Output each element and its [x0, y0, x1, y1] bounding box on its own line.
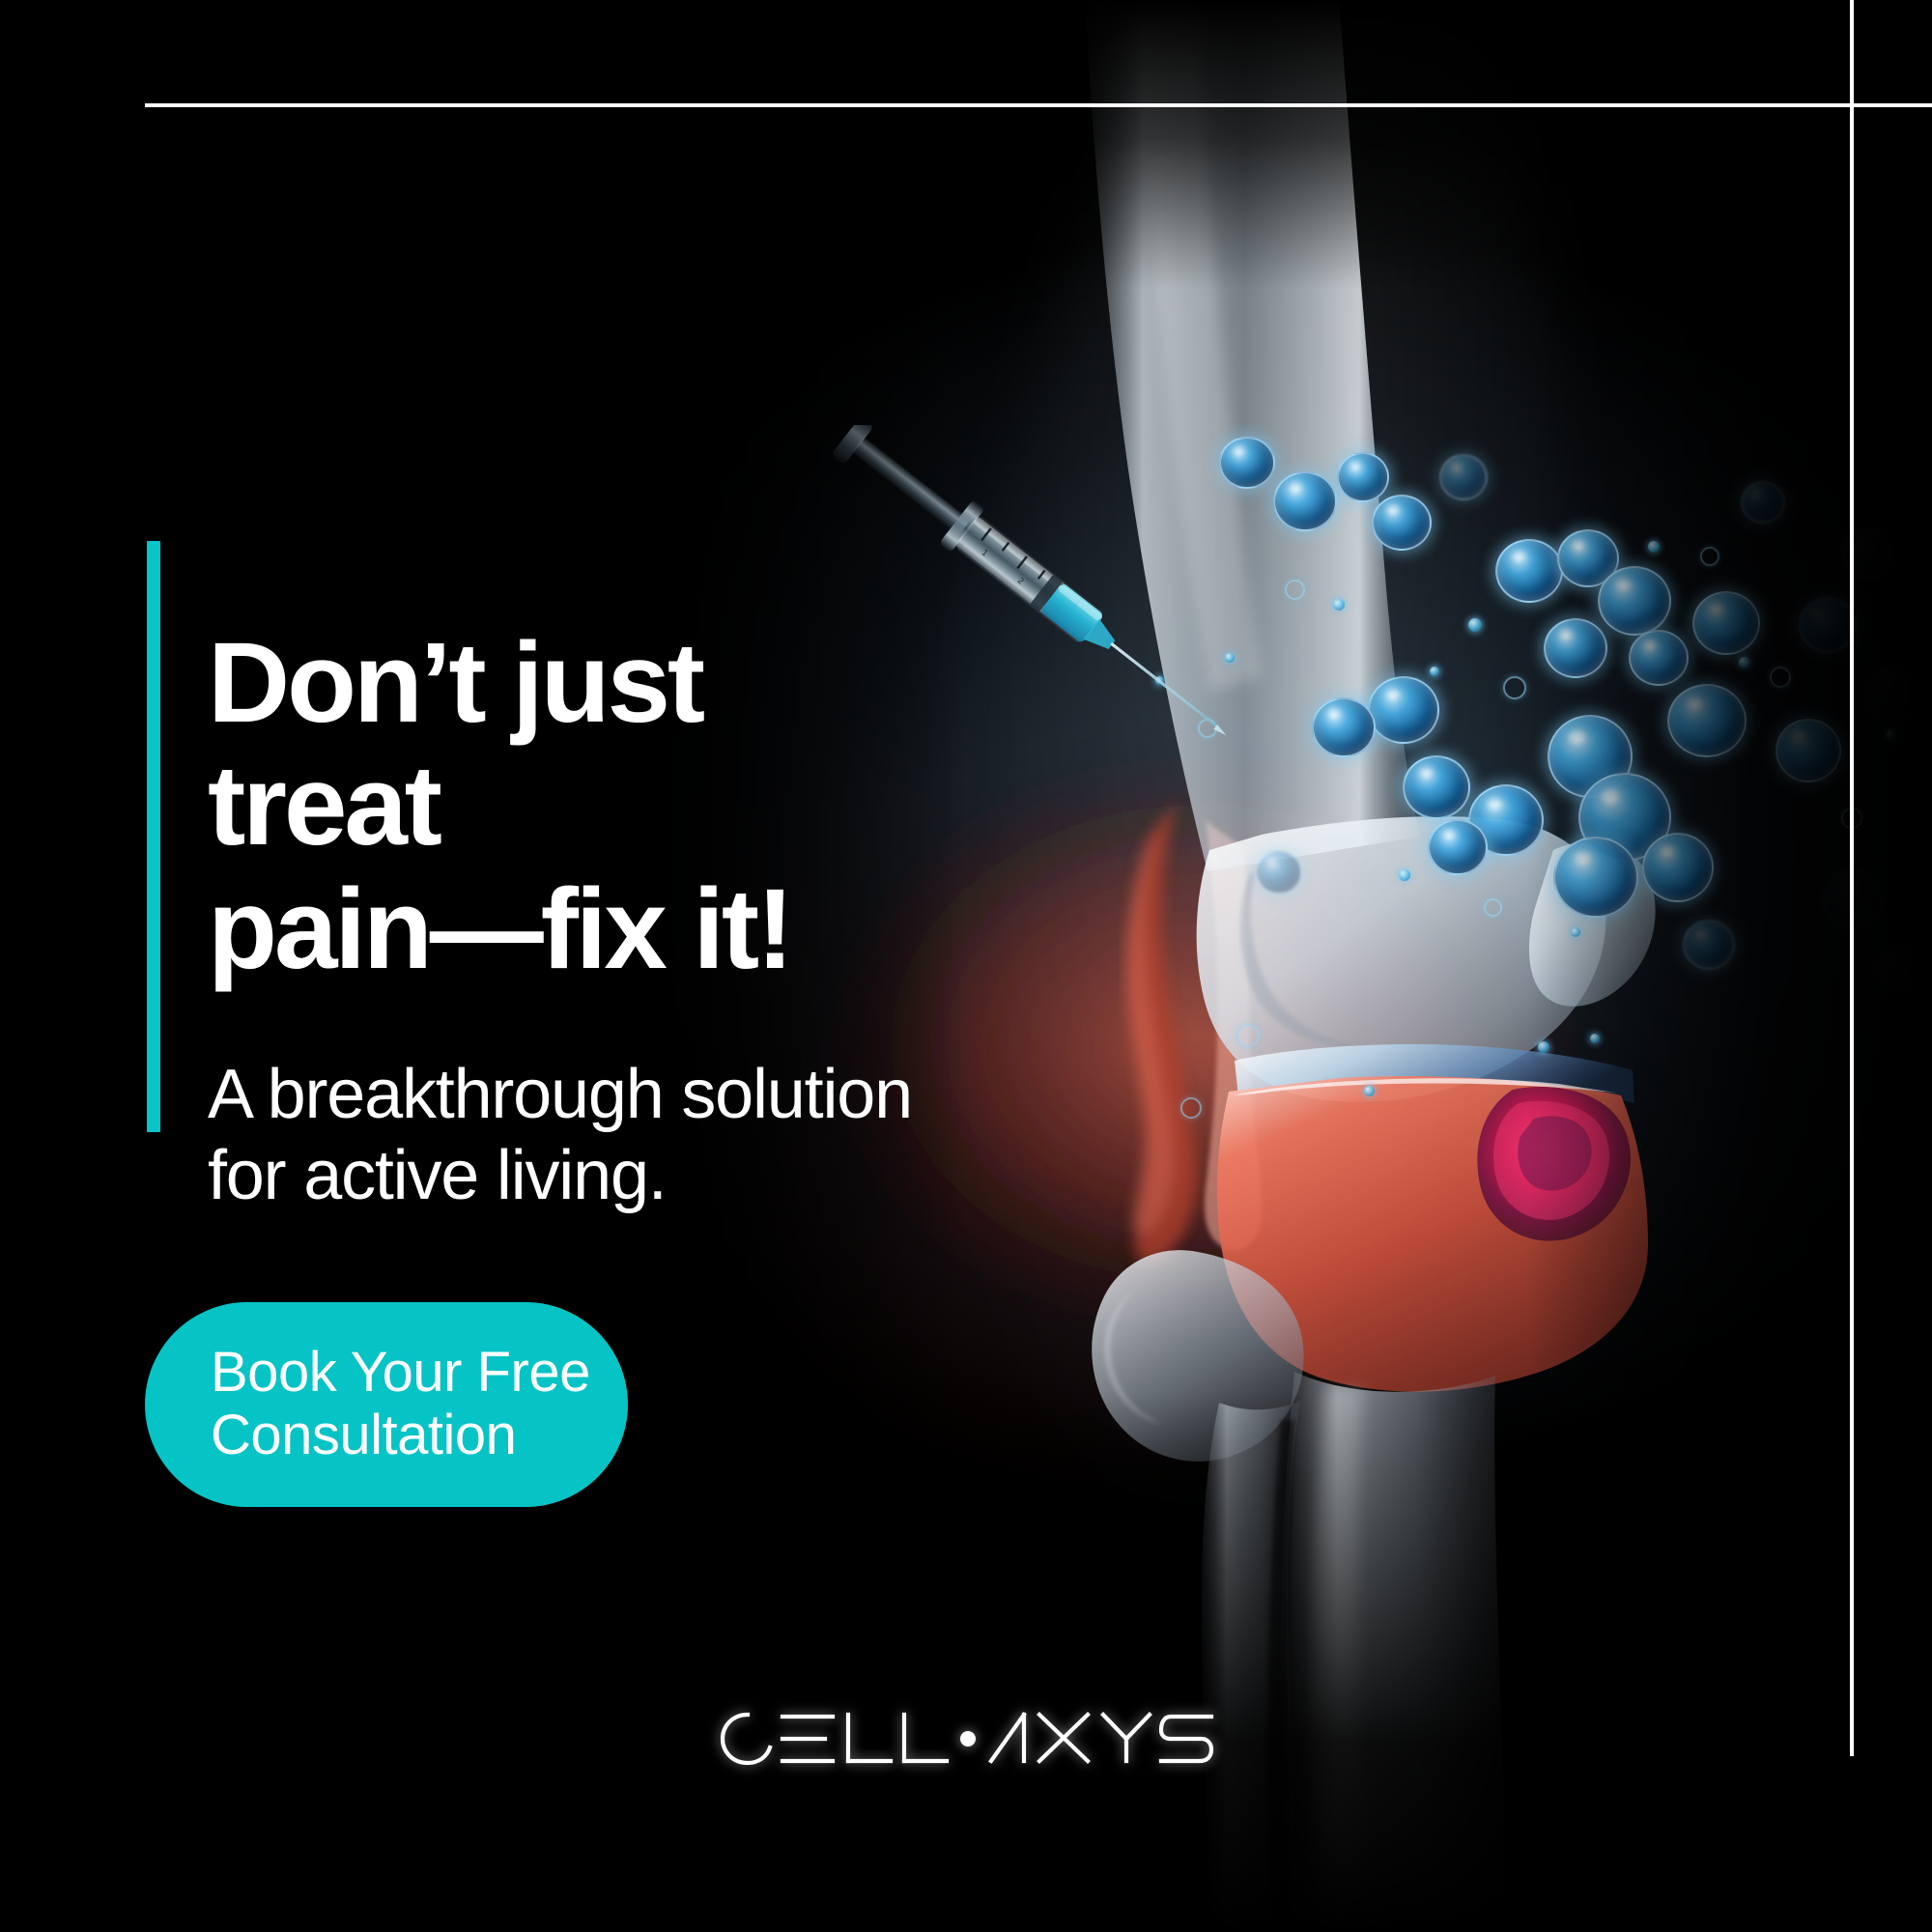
- subheading-line-1: A breakthrough solution: [208, 1056, 912, 1133]
- logo-dot-separator: [960, 1731, 976, 1747]
- right-hairline-rule: [1850, 0, 1854, 1756]
- subheading: A breakthrough solution for active livin…: [208, 1055, 923, 1216]
- logo-letter-x: [1039, 1715, 1088, 1761]
- book-consultation-button[interactable]: Book Your Free Consultation: [145, 1302, 628, 1507]
- page-title: Don’t just treat pain—fix it!: [208, 622, 942, 991]
- cta-label-line-2: Consultation: [211, 1405, 590, 1467]
- logo-letter-c: [723, 1715, 770, 1763]
- logo-letter-e: [782, 1717, 833, 1761]
- top-hairline-rule: [145, 103, 1932, 107]
- right-vignette: [1526, 0, 1932, 1932]
- headline-line-2: pain—fix it!: [208, 866, 791, 993]
- logo-letter-l2: [904, 1715, 947, 1761]
- logo-letter-a: [991, 1715, 1024, 1761]
- headline-line-1: Don’t just treat: [208, 619, 702, 869]
- cta-label-line-1: Book Your Free: [211, 1341, 590, 1404]
- logo-letter-y: [1103, 1715, 1150, 1761]
- ad-canvas: 1 2 3 Don’t just tre: [0, 0, 1932, 1932]
- logo-letter-l1: [848, 1715, 891, 1761]
- cta-label: Book Your Free Consultation: [211, 1342, 590, 1467]
- cellaxys-logo: [705, 1695, 1227, 1782]
- accent-bar: [147, 541, 160, 1132]
- logo-letter-s: [1161, 1717, 1211, 1761]
- subheading-line-2: for active living.: [208, 1136, 923, 1217]
